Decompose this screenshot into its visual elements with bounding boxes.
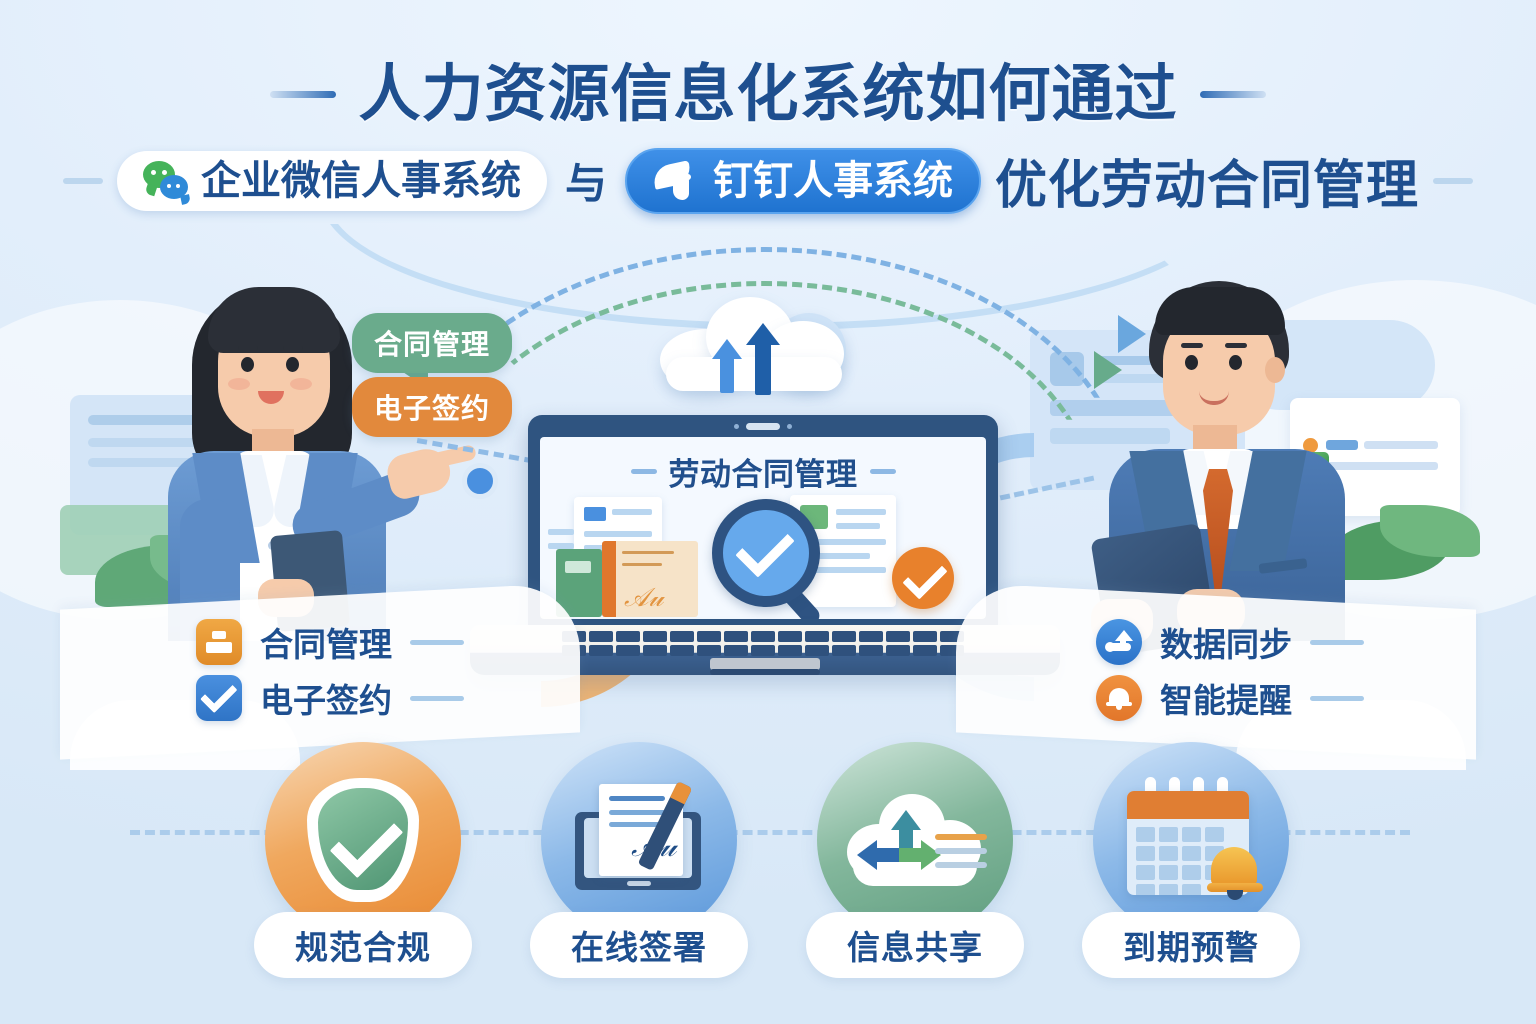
bottom-item-label-2: 信息共享 [847,921,983,969]
bottom-item-expiry-alert[interactable]: 到期预警 [1076,742,1306,978]
cloud-share-icon [817,742,1013,938]
female-eye-left [241,357,254,372]
wechat-bubbles-icon [143,161,189,201]
badge-dingtalk-label: 钉钉人事系统 [713,161,953,201]
badge-wechat-label: 企业微信人事系统 [201,161,521,201]
feature-right-label-0: 数据同步 [1160,618,1292,666]
title-block: 人力资源信息化系统如何通过 企业微信人事系统 与 [0,62,1536,218]
calendar-bell-icon [1093,742,1289,938]
cloud-icon [660,295,850,390]
feature-right-smart-reminder[interactable]: 智能提醒 [1096,674,1364,722]
feature-right-data-sync[interactable]: 数据同步 [1096,618,1364,666]
male-ear [1265,357,1285,383]
feature-left-label-0: 合同管理 [260,618,392,666]
subtitle-dash-left [63,178,103,184]
female-blush-left [228,378,250,390]
male-eye-right [1229,355,1242,370]
shield-check-icon [265,742,461,938]
male-brow-right [1225,343,1247,348]
bottom-item-label-wrap-0: 规范合规 [254,912,472,978]
bottom-item-label-wrap-1: 在线签署 [530,912,748,978]
magnifier-check-icon [712,499,820,607]
page-title: 人力资源信息化系统如何通过 [358,62,1177,127]
feature-left-dash-0 [410,640,464,645]
feature-left-dash-1 [410,696,464,701]
title-line-1: 人力资源信息化系统如何通过 [0,62,1536,127]
subtitle-dash-right [1433,178,1473,184]
bottom-item-label-3: 到期预警 [1123,921,1259,969]
female-brow-left [238,346,258,350]
feature-right-dash-0 [1310,640,1364,645]
bottom-item-label-1: 在线签署 [571,921,707,969]
bell-icon [1096,675,1142,721]
infographic-canvas: 人力资源信息化系统如何通过 企业微信人事系统 与 [0,0,1536,1024]
check-icon [196,675,242,721]
female-brow-right [283,346,303,350]
screen-title: 劳动合同管理 [669,449,858,494]
feature-left-label-1: 电子签约 [260,674,392,722]
hr-person-male-illustration [1075,273,1395,633]
feature-right-dash-1 [1310,696,1364,701]
male-hair-front [1155,287,1285,335]
sync-icon [1096,619,1142,665]
bottom-item-compliance[interactable]: 规范合规 [248,742,478,978]
id-card-icon [196,619,242,665]
title-dash-left [270,91,336,98]
bottom-item-info-sharing[interactable]: 信息共享 [800,742,1030,978]
bottom-item-label-wrap-2: 信息共享 [806,912,1024,978]
bottom-item-label-wrap-3: 到期预警 [1082,912,1300,978]
laptop-screen[interactable]: 劳动合同管理 [540,437,986,619]
bottom-item-online-signing[interactable]: 𝒜𝓊 在线签署 [524,742,754,978]
female-blush-right [290,378,312,390]
feature-right-label-1: 智能提醒 [1160,674,1292,722]
male-brow-left [1181,343,1203,348]
laptop-camera [734,423,792,430]
female-hair-front [208,287,340,353]
title-dash-right [1200,91,1266,98]
feature-left-contract-management[interactable]: 合同管理 [196,618,464,666]
female-eye-right [286,357,299,372]
screen-title-row: 劳动合同管理 [540,449,986,494]
tag-contract-management-label: 合同管理 [374,323,490,363]
bottom-item-label-0: 规范合规 [295,921,431,969]
male-eye-left [1185,355,1198,370]
tag-contract-management[interactable]: 合同管理 [352,313,512,373]
feature-left-e-signing[interactable]: 电子签约 [196,674,464,722]
tablet-signature-icon: 𝒜𝓊 [541,742,737,938]
